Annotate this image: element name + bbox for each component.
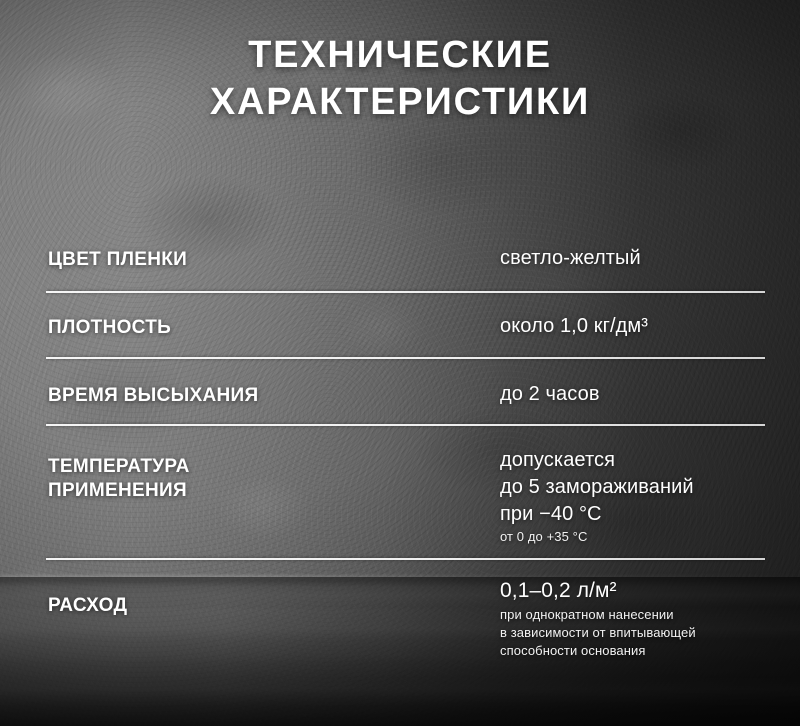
row-divider-1 (46, 291, 765, 293)
row-divider-4 (46, 558, 765, 560)
row-divider-3 (46, 424, 765, 426)
page-title: ТЕХНИЧЕСКИЕ ХАРАКТЕРИСТИКИ (0, 32, 800, 126)
spec-label-density: ПЛОТНОСТЬ (48, 316, 171, 340)
spec-note-application-temperature: от 0 до +35 °C (500, 528, 587, 546)
spec-value-consumption: 0,1–0,2 л/м² (500, 577, 617, 604)
technical-specifications-slide: ТЕХНИЧЕСКИЕ ХАРАКТЕРИСТИКИ ЦВЕТ ПЛЕНКИ с… (0, 0, 800, 726)
spec-value-application-temperature: допускается до 5 замораживаний при −40 °… (500, 447, 694, 528)
spec-value-drying-time: до 2 часов (500, 381, 600, 408)
spec-value-film-color: светло-желтый (500, 245, 641, 272)
page-title-line-1: ТЕХНИЧЕСКИЕ (0, 32, 800, 79)
spec-label-drying-time: ВРЕМЯ ВЫСЫХАНИЯ (48, 384, 258, 408)
spec-value-density: около 1,0 кг/дм³ (500, 313, 648, 340)
spec-label-consumption: РАСХОД (48, 594, 127, 618)
spec-label-film-color: ЦВЕТ ПЛЕНКИ (48, 248, 187, 272)
spec-label-application-temperature: ТЕМПЕРАТУРА ПРИМЕНЕНИЯ (48, 455, 190, 503)
row-divider-2 (46, 357, 765, 359)
spec-note-consumption: при однократном нанесении в зависимости … (500, 606, 696, 660)
slide-content: ТЕХНИЧЕСКИЕ ХАРАКТЕРИСТИКИ ЦВЕТ ПЛЕНКИ с… (0, 0, 800, 726)
page-title-line-2: ХАРАКТЕРИСТИКИ (0, 79, 800, 126)
